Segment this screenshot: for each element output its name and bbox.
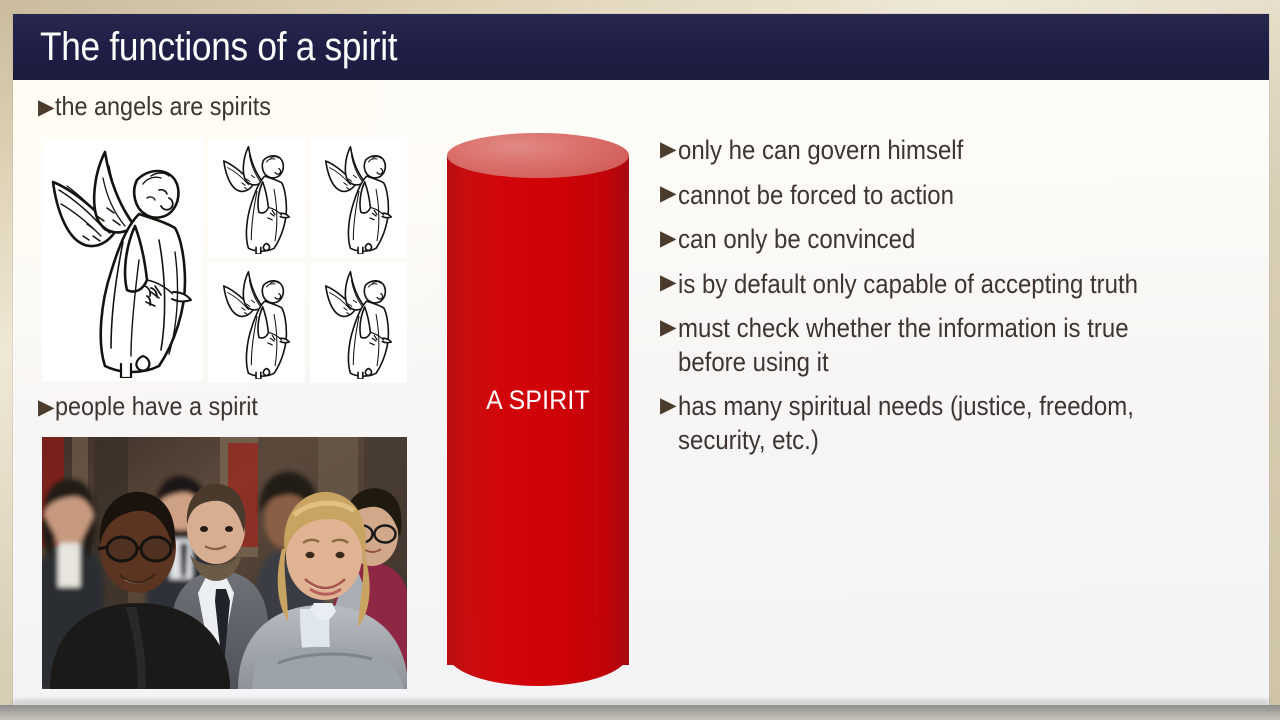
bottom-frame-band (0, 705, 1280, 720)
cylinder-top-ellipse (447, 133, 629, 178)
bullet-triangle-icon: ▶ (38, 94, 54, 120)
list-item: ▶ is by default only capable of acceptin… (660, 268, 1230, 302)
angel-illustration-small (310, 263, 407, 383)
left-heading-angels-label: the angels are spirits (55, 92, 386, 121)
angel-illustration-small (208, 263, 305, 383)
bullet-triangle-icon: ▶ (660, 136, 677, 163)
business-people-photo (42, 437, 407, 689)
list-item-label: must check whether the information is tr… (678, 312, 1178, 379)
left-heading-people: ▶ people have a spirit (38, 392, 423, 421)
bullet-triangle-icon: ▶ (660, 392, 677, 419)
list-item: ▶ has many spiritual needs (justice, fre… (660, 390, 1230, 457)
angel-illustration-small (208, 138, 305, 258)
left-heading-people-label: people have a spirit (55, 392, 386, 421)
angel-icon (215, 142, 299, 254)
cylinder-bottom-cap (447, 620, 629, 686)
list-item: ▶ must check whether the information is … (660, 312, 1230, 379)
left-content-column: ▶ the angels are spirits (38, 92, 423, 692)
angel-illustration-group (42, 138, 407, 381)
bullet-triangle-icon: ▶ (38, 394, 54, 420)
cylinder-label: A SPIRIT (454, 385, 621, 416)
list-item: ▶ only he can govern himself (660, 134, 1230, 168)
bullet-triangle-icon: ▶ (660, 314, 677, 341)
angel-icon (215, 267, 299, 379)
bullet-triangle-icon: ▶ (660, 269, 677, 296)
list-item-label: can only be convinced (678, 223, 1178, 257)
bullet-triangle-icon: ▶ (660, 180, 677, 207)
people-photo-graphic (42, 437, 407, 689)
page-title: The functions of a spirit (40, 27, 397, 67)
bullet-triangle-icon: ▶ (660, 225, 677, 252)
angel-illustration-small (310, 138, 407, 258)
right-content-column: ▶ only he can govern himself ▶ cannot be… (660, 134, 1230, 468)
left-heading-angels: ▶ the angels are spirits (38, 92, 423, 121)
list-item-label: is by default only capable of accepting … (678, 268, 1178, 302)
list-item: ▶ can only be convinced (660, 223, 1230, 257)
angel-icon (47, 142, 199, 378)
slide-title-bar: The functions of a spirit (13, 14, 1269, 80)
list-item-label: only he can govern himself (678, 134, 1178, 168)
list-item-label: has many spiritual needs (justice, freed… (678, 390, 1178, 457)
spirit-cylinder-diagram: A SPIRIT (447, 133, 629, 686)
angel-illustration-grid (208, 138, 407, 381)
list-item: ▶ cannot be forced to action (660, 179, 1230, 213)
angel-illustration-large (42, 138, 203, 381)
angel-icon (317, 267, 401, 379)
list-item-label: cannot be forced to action (678, 179, 1178, 213)
slide-root: The functions of a spirit ▶ the angels a… (0, 0, 1280, 720)
angel-icon (317, 142, 401, 254)
